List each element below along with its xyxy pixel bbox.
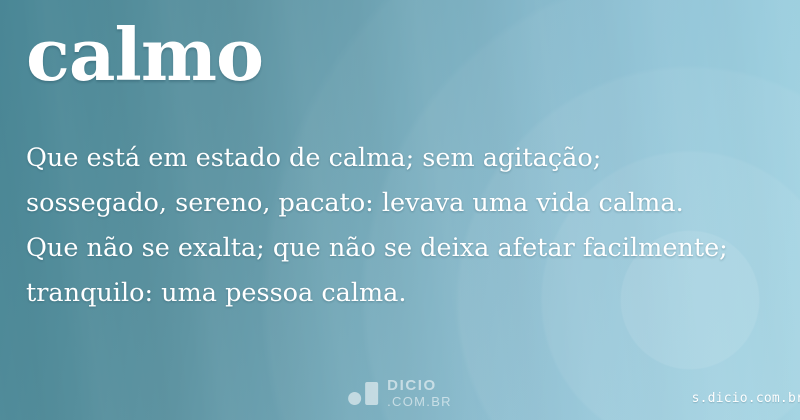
dicio-logo-mark-icon xyxy=(348,381,378,405)
site-watermark: s.dicio.com.br xyxy=(692,391,800,406)
dicio-logo-text: DICIO .COM.BR xyxy=(387,378,452,408)
logo-bar-shape xyxy=(365,382,378,405)
logo-brand-name: DICIO xyxy=(387,378,452,393)
definition-item: Que está em estado de calma; sem agitaçã… xyxy=(26,136,736,226)
logo-circle-shape xyxy=(348,392,361,405)
dictionary-definition-card: calmo Que está em estado de calma; sem a… xyxy=(0,0,800,420)
definition-item: Que não se exalta; que não se deixa afet… xyxy=(26,226,736,316)
card-content: calmo Que está em estado de calma; sem a… xyxy=(0,0,800,420)
logo-domain-suffix: .COM.BR xyxy=(387,395,452,408)
definition-list: Que está em estado de calma; sem agitaçã… xyxy=(26,136,736,316)
headword-title: calmo xyxy=(26,16,263,94)
dicio-logo: DICIO .COM.BR xyxy=(348,378,452,408)
